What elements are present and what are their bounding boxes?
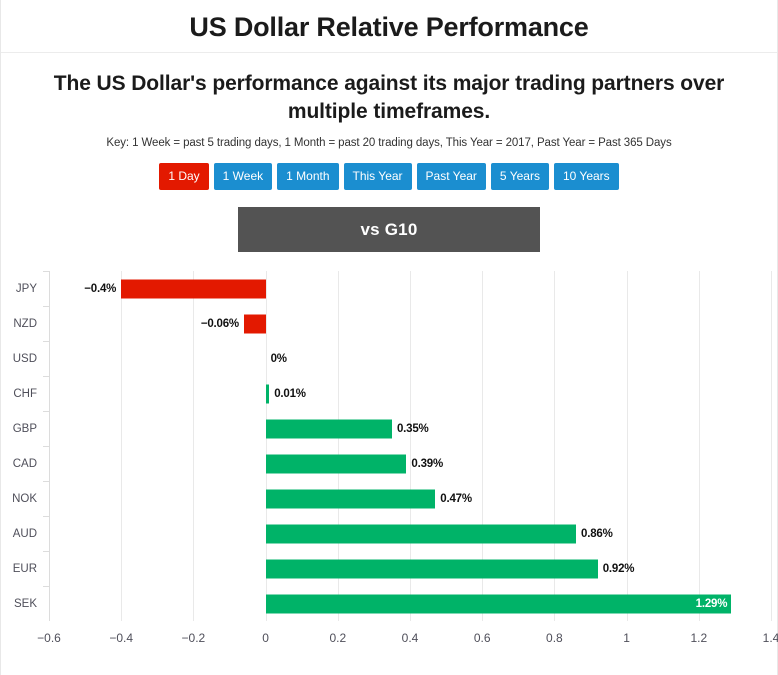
- bar-value-label-jpy: −0.4%: [84, 283, 116, 295]
- timeframe-button-group: 1 Day1 Week1 MonthThis YearPast Year5 Ye…: [1, 149, 777, 190]
- bar-eur[interactable]: [266, 559, 598, 578]
- x-axis-label: 0.2: [329, 631, 346, 645]
- y-axis-label-chf: CHF: [13, 388, 37, 400]
- y-axis-label-sek: SEK: [14, 598, 37, 610]
- y-axis-label-cad: CAD: [13, 458, 37, 470]
- y-axis-tick: [43, 376, 49, 377]
- x-axis-label: 0: [262, 631, 269, 645]
- bar-value-label-gbp: 0.35%: [397, 423, 429, 435]
- x-axis-label: 0.8: [546, 631, 563, 645]
- bar-value-label-cad: 0.39%: [411, 458, 443, 470]
- bar-jpy[interactable]: [121, 279, 265, 298]
- bar-nok[interactable]: [266, 489, 436, 508]
- x-axis-label: −0.2: [182, 631, 206, 645]
- x-axis-label: 1: [623, 631, 630, 645]
- y-axis-tick: [43, 551, 49, 552]
- gridline: [121, 271, 122, 621]
- y-axis-tick: [43, 481, 49, 482]
- bar-value-label-nok: 0.47%: [440, 493, 472, 505]
- bar-sek[interactable]: [266, 594, 732, 613]
- bar-value-label-chf: 0.01%: [274, 388, 306, 400]
- dashboard-page: US Dollar Relative Performance The US Do…: [0, 0, 778, 675]
- timeframe-button-5-years[interactable]: 5 Years: [491, 163, 549, 190]
- x-axis-label: 0.6: [474, 631, 491, 645]
- timeframe-button-10-years[interactable]: 10 Years: [554, 163, 619, 190]
- timeframe-button-this-year[interactable]: This Year: [344, 163, 412, 190]
- bar-value-label-usd: 0%: [271, 353, 287, 365]
- y-axis-tick: [43, 306, 49, 307]
- chart-banner: vs G10: [238, 207, 540, 252]
- page-subtitle: The US Dollar's performance against its …: [1, 53, 777, 126]
- x-axis-label: −0.4: [109, 631, 133, 645]
- gridline: [771, 271, 772, 621]
- timeframe-button-1-week[interactable]: 1 Week: [214, 163, 272, 190]
- bar-chf[interactable]: [266, 384, 270, 403]
- y-axis-label-nzd: NZD: [13, 318, 37, 330]
- y-axis-tick: [43, 341, 49, 342]
- bar-aud[interactable]: [266, 524, 576, 543]
- bar-chart: −0.6−0.4−0.200.20.40.60.811.21.4JPY−0.4%…: [1, 271, 777, 666]
- bar-value-label-sek: 1.29%: [696, 598, 728, 610]
- y-axis-label-eur: EUR: [13, 563, 37, 575]
- y-axis-spine: [49, 271, 50, 621]
- bar-cad[interactable]: [266, 454, 407, 473]
- page-title: US Dollar Relative Performance: [1, 0, 777, 45]
- timeframe-button-past-year[interactable]: Past Year: [417, 163, 486, 190]
- y-axis-tick: [43, 446, 49, 447]
- y-axis-label-gbp: GBP: [13, 423, 37, 435]
- timeframe-button-1-day[interactable]: 1 Day: [159, 163, 208, 190]
- y-axis-tick: [43, 271, 49, 272]
- y-axis-label-nok: NOK: [12, 493, 37, 505]
- bar-nzd[interactable]: [244, 314, 266, 333]
- x-axis-label: 0.4: [402, 631, 419, 645]
- bar-value-label-eur: 0.92%: [603, 563, 635, 575]
- y-axis-label-jpy: JPY: [16, 283, 37, 295]
- x-axis-label: −0.6: [37, 631, 61, 645]
- x-axis-label: 1.4: [763, 631, 778, 645]
- key-note: Key: 1 Week = past 5 trading days, 1 Mon…: [1, 126, 777, 149]
- y-axis-label-usd: USD: [13, 353, 37, 365]
- y-axis-label-aud: AUD: [13, 528, 37, 540]
- timeframe-button-1-month[interactable]: 1 Month: [277, 163, 338, 190]
- gridline: [193, 271, 194, 621]
- y-axis-tick: [43, 586, 49, 587]
- plot-area: −0.6−0.4−0.200.20.40.60.811.21.4JPY−0.4%…: [49, 271, 771, 621]
- bar-gbp[interactable]: [266, 419, 392, 438]
- chart-banner-wrap: vs G10: [1, 190, 777, 252]
- gridline: [699, 271, 700, 621]
- x-axis-label: 1.2: [690, 631, 707, 645]
- bar-value-label-nzd: −0.06%: [201, 318, 239, 330]
- y-axis-tick: [43, 516, 49, 517]
- bar-value-label-aud: 0.86%: [581, 528, 613, 540]
- y-axis-tick: [43, 411, 49, 412]
